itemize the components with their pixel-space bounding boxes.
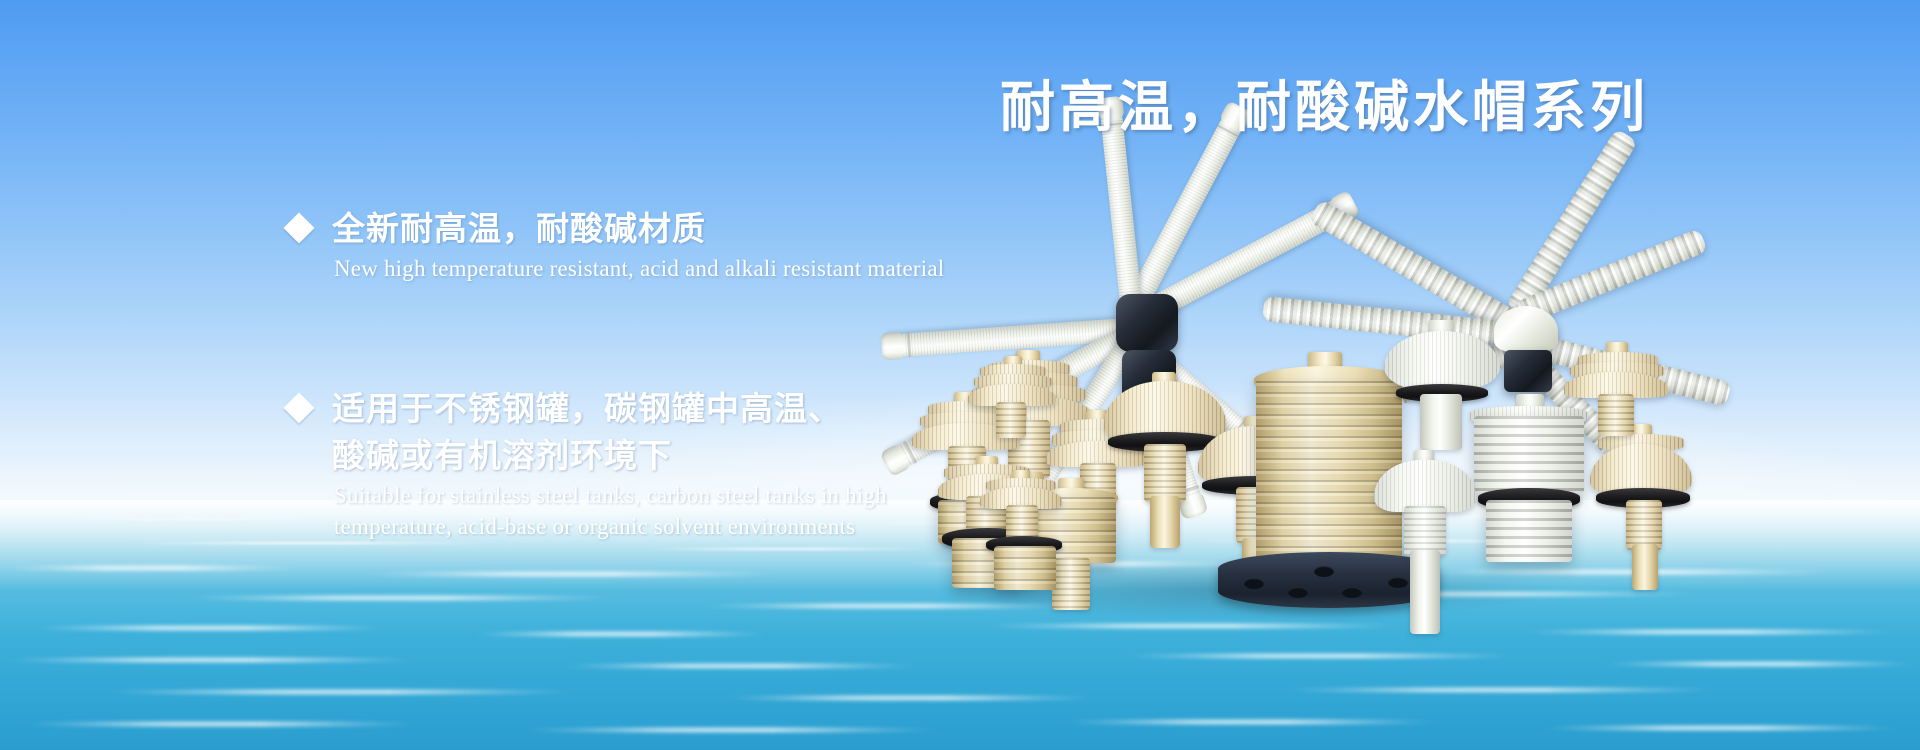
feature-2-cn-line-2: 酸碱或有机溶剂环境下 xyxy=(332,432,887,479)
banner-title: 耐高温，耐酸碱水帽系列 xyxy=(1000,62,1649,142)
product-banner: 耐高温，耐酸碱水帽系列 全新耐高温，耐酸碱材质 New high tempera… xyxy=(0,0,1920,750)
feature-1-cn-line-1: 全新耐高温，耐酸碱材质 xyxy=(332,205,706,252)
diamond-bullet-icon xyxy=(283,212,314,243)
feature-1-en-line-1: New high temperature resistant, acid and… xyxy=(334,254,944,283)
feature-2-cn-line-1: 适用于不锈钢罐，碳钢罐中高温、 xyxy=(332,385,842,432)
feature-2-en-line-2: temperature, acid-base or organic solven… xyxy=(334,512,887,541)
feature-bullet-2: 适用于不锈钢罐，碳钢罐中高温、 酸碱或有机溶剂环境下 Suitable for … xyxy=(288,385,887,541)
diamond-bullet-icon xyxy=(283,392,314,423)
feature-2-en-line-1: Suitable for stainless steel tanks, carb… xyxy=(334,481,887,510)
feature-bullet-1: 全新耐高温，耐酸碱材质 New high temperature resista… xyxy=(288,205,944,283)
